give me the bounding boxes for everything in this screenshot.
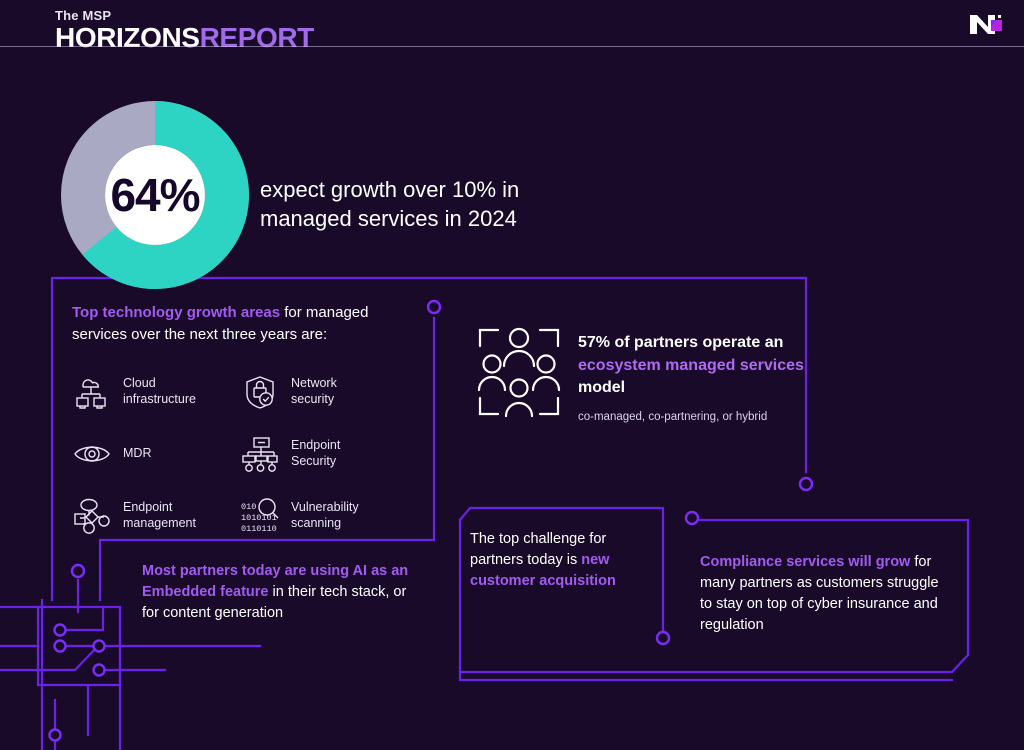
network-security-icon bbox=[240, 372, 280, 412]
label-line-1: Endpoint bbox=[123, 500, 172, 514]
donut-headline: expect growth over 10% in managed servic… bbox=[260, 175, 620, 233]
label-line-1: Cloud bbox=[123, 376, 156, 390]
growth-item-vulnerability-scanning: 010 1010101 0110110 Vulnerability scanni… bbox=[240, 496, 408, 536]
label-line-1: MDR bbox=[123, 446, 151, 460]
trace-left-verticals bbox=[42, 580, 120, 750]
growth-item-network-security: Network security bbox=[240, 372, 408, 412]
headline-line-2: managed services in 2024 bbox=[260, 206, 517, 231]
vulnerability-scanning-icon: 010 1010101 0110110 bbox=[240, 496, 280, 536]
label-line-2: security bbox=[291, 392, 334, 406]
report-kicker: The MSP bbox=[55, 9, 314, 22]
growth-donut-chart: 64% bbox=[60, 100, 250, 290]
trace-bus-lines bbox=[0, 607, 260, 750]
label-line-1: Vulnerability bbox=[291, 500, 359, 514]
label-line-2: management bbox=[123, 516, 196, 530]
report-header: The MSP HORIZONSREPORT bbox=[0, 0, 1024, 52]
growth-item-label: Vulnerability scanning bbox=[291, 500, 359, 531]
label-line-2: scanning bbox=[291, 516, 341, 530]
trace-node bbox=[657, 632, 669, 644]
wordmark-horizons: HORIZONS bbox=[55, 22, 200, 53]
label-line-1: Network bbox=[291, 376, 337, 390]
header-divider bbox=[0, 46, 1024, 47]
cloud-infrastructure-icon bbox=[72, 372, 112, 412]
wordmark-report: REPORT bbox=[200, 22, 314, 53]
ecosystem-subtext: co-managed, co-partnering, or hybrid bbox=[578, 411, 828, 423]
trace-node bbox=[800, 478, 812, 490]
growth-item-cloud-infrastructure: Cloud infrastructure bbox=[72, 372, 240, 412]
growth-item-endpoint-management: Endpoint management bbox=[72, 496, 240, 536]
mdr-eye-icon bbox=[72, 434, 112, 474]
endpoint-security-icon bbox=[240, 434, 280, 474]
svg-text:0110110: 0110110 bbox=[241, 524, 277, 534]
svg-text:010: 010 bbox=[241, 502, 256, 512]
growth-item-label: Endpoint management bbox=[123, 500, 196, 531]
donut-value-label: 64% bbox=[60, 100, 250, 290]
trace-node bbox=[55, 625, 66, 636]
n-able-logo-icon bbox=[964, 8, 1008, 40]
eco-plain-1: 57% of partners operate an bbox=[578, 334, 783, 351]
growth-items-grid: Cloud infrastructure Network security bbox=[72, 372, 402, 536]
eco-accent: ecosystem managed services bbox=[578, 357, 804, 374]
endpoint-management-icon bbox=[72, 496, 112, 536]
trace-node bbox=[94, 665, 105, 676]
trace-node bbox=[686, 512, 698, 524]
trace-node bbox=[50, 730, 61, 741]
label-line-1: Endpoint bbox=[291, 438, 340, 452]
growth-item-label: MDR bbox=[123, 446, 151, 462]
trace-chip-body bbox=[38, 607, 120, 685]
callout-top-challenge: The top challenge for partners today is … bbox=[470, 529, 655, 592]
trace-node bbox=[72, 565, 84, 577]
svg-text:1010101: 1010101 bbox=[241, 513, 277, 523]
ecosystem-headline: 57% of partners operate an ecosystem man… bbox=[578, 332, 828, 400]
growth-item-label: Network security bbox=[291, 376, 337, 407]
trace-node bbox=[94, 641, 105, 652]
trace-node bbox=[428, 301, 440, 313]
people-group-icon bbox=[476, 322, 562, 422]
callout-ai-adoption: Most partners today are using AI as an E… bbox=[142, 561, 424, 624]
label-line-2: infrastructure bbox=[123, 392, 196, 406]
growth-item-label: Endpoint Security bbox=[291, 438, 340, 469]
trace-node bbox=[55, 641, 66, 652]
headline-line-1: expect growth over 10% in bbox=[260, 177, 519, 202]
growth-intro-accent: Top technology growth areas bbox=[72, 304, 280, 321]
eco-plain-2: model bbox=[578, 379, 625, 396]
growth-areas-block: Top technology growth areas for managed … bbox=[72, 302, 402, 536]
label-line-2: Security bbox=[291, 454, 336, 468]
growth-item-label: Cloud infrastructure bbox=[123, 376, 196, 407]
report-wordmark: HORIZONSREPORT bbox=[55, 24, 314, 52]
growth-item-mdr: MDR bbox=[72, 434, 240, 474]
callout-compliance: Compliance services will grow for many p… bbox=[700, 552, 945, 636]
ecosystem-text-block: 57% of partners operate an ecosystem man… bbox=[578, 332, 828, 423]
growth-intro: Top technology growth areas for managed … bbox=[72, 302, 402, 346]
growth-item-endpoint-security: Endpoint Security bbox=[240, 434, 408, 474]
compliance-accent: Compliance services will grow bbox=[700, 554, 910, 570]
